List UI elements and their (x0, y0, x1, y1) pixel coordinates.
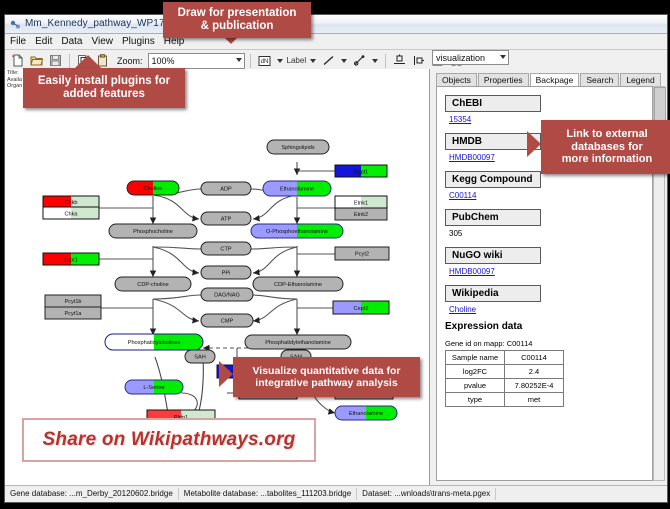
table-cell-key: type (446, 393, 505, 407)
menu-bar: File Edit Data View Plugins Help (5, 34, 667, 50)
pathway-info-header: Title: Availa Organ (7, 70, 22, 90)
svg-text:Chka: Chka (64, 212, 78, 218)
callout-text: Link to externaldatabases formore inform… (562, 128, 652, 166)
callout-plugins-arrow (75, 55, 101, 68)
table-row: log2FC 2.4 (446, 365, 564, 379)
table-cell-value: 7.80252E-4 (505, 379, 564, 393)
database-name: PubChem (445, 209, 541, 226)
svg-text:Phosphocholine: Phosphocholine (133, 229, 173, 235)
node-sah: SAH (185, 350, 215, 363)
node-cept1-right: Cept1 (333, 301, 389, 314)
node-cdp-ethanolamine: CDP-Ethanolamine (253, 277, 343, 291)
database-link[interactable]: C00114 (449, 191, 652, 200)
callout-visualize-arrow (219, 361, 233, 387)
database-value: 305 (449, 229, 652, 238)
svg-text:Phosphatidylethanolamine: Phosphatidylethanolamine (265, 340, 331, 346)
zoom-value: 100% (152, 56, 175, 66)
table-cell-key: pvalue (446, 379, 505, 393)
table-row: type met (446, 393, 564, 407)
database-name: ChEBI (445, 95, 541, 112)
line-icon[interactable] (320, 52, 337, 69)
svg-text:Cept1: Cept1 (354, 306, 369, 312)
menu-item-file[interactable]: File (10, 36, 26, 47)
node-phosphatidylethanolamine: Phosphatidylethanolamine (245, 335, 351, 349)
chevron-down-icon[interactable] (310, 59, 316, 63)
zoom-combobox[interactable]: 100% (148, 53, 245, 69)
visualization-combobox[interactable]: visualization (432, 50, 509, 65)
expression-data-table: Sample name C00114 log2FC 2.4 pvalue 7.8… (445, 350, 564, 407)
menu-item-plugins[interactable]: Plugins (122, 36, 155, 47)
table-cell-key: Sample name (446, 351, 505, 365)
node-pcyt1a: Pcyt1a (45, 307, 101, 319)
align-left-icon[interactable] (410, 52, 427, 69)
toolbar-separator (385, 54, 386, 68)
pathvisio-app-icon (10, 19, 21, 30)
svg-text:Sgpl1: Sgpl1 (354, 170, 368, 176)
status-dataset: Dataset: ...wnloads\trans-meta.pgex (357, 488, 496, 500)
svg-text:Ethanolamine: Ethanolamine (280, 187, 314, 193)
toolbar-separator (69, 54, 70, 68)
callout-text: Share on Wikipathways.org (43, 429, 296, 451)
visualization-value: visualization (436, 53, 485, 63)
database-link[interactable]: Choline (449, 305, 652, 314)
new-file-icon[interactable] (9, 52, 26, 69)
tab-legend[interactable]: Legend (620, 73, 660, 86)
anchor-icon[interactable] (351, 52, 368, 69)
database-name: NuGO wiki (445, 247, 541, 264)
node-chka: Chka (43, 207, 99, 219)
align-top-icon[interactable] (391, 52, 408, 69)
table-row: pvalue 7.80252E-4 (446, 379, 564, 393)
status-metabolite-database: Metabolite database: ...tabolites_111203… (179, 488, 357, 500)
zoom-label: Zoom: (117, 56, 143, 66)
screenshot-root: Mm_Kennedy_pathway_WP1771_45176.gpml Fil… (0, 0, 670, 509)
tab-properties[interactable]: Properties (478, 73, 529, 86)
node-dag-nag: DAG/NAG (201, 288, 253, 301)
status-bar: Gene database: ...m_Derby_20120602.bridg… (5, 485, 667, 502)
tab-backpage[interactable]: Backpage (530, 73, 580, 87)
table-cell-value: 2.4 (505, 365, 564, 379)
open-folder-icon[interactable] (28, 52, 45, 69)
window-title-bar: Mm_Kennedy_pathway_WP1771_45176.gpml (5, 15, 667, 34)
node-phosphocholine: Phosphocholine (109, 224, 197, 238)
callout-visualize-data: Visualize quantitative data forintegrati… (233, 357, 420, 397)
svg-text:Ctpt1: Ctpt1 (64, 258, 77, 264)
svg-text:ADP: ADP (220, 187, 232, 193)
node-cept1-left: Ctpt1 (43, 253, 99, 265)
node-o-phosphoethanolamine: O-Phosphoethanolamine (251, 224, 343, 238)
callout-text: Draw for presentation& publication (178, 7, 297, 33)
svg-text:Pcyt1a: Pcyt1a (64, 311, 82, 317)
callout-share-wikipathways: Share on Wikipathways.org (22, 418, 316, 462)
svg-text:ATP: ATP (221, 217, 232, 223)
node-sphingolipids: Sphingolipids (267, 140, 329, 154)
node-pcyt2: Pcyt2 (335, 247, 389, 260)
node-pcyt1b: Pcyt1b (45, 295, 101, 307)
node-atp: ATP (201, 212, 251, 225)
chevron-down-icon (236, 58, 242, 62)
node-ethanolamine-1: Ethanolamine (263, 181, 331, 196)
chevron-down-icon (500, 55, 506, 59)
table-cell-key: log2FC (446, 365, 505, 379)
datanode-icon[interactable]: dN (256, 52, 273, 69)
table-cell-value: C00114 (505, 351, 564, 365)
toolbar-separator (250, 54, 251, 68)
node-ethanolamine-2: Ethanolamine (335, 406, 397, 420)
node-choline-top: Choline (127, 181, 179, 195)
node-etnk2: Etnk2 (335, 208, 387, 220)
svg-text:CDP-Ethanolamine: CDP-Ethanolamine (274, 282, 322, 288)
expression-data-heading: Expression data (445, 321, 652, 332)
svg-text:Ethanolamine: Ethanolamine (349, 411, 383, 417)
svg-text:Pcyt2: Pcyt2 (355, 252, 369, 258)
node-sgpl1: Sgpl1 (335, 165, 387, 177)
node-l-serine-left: L-Serine (125, 380, 183, 394)
tab-objects[interactable]: Objects (436, 73, 477, 86)
node-cmp: CMP (201, 314, 253, 327)
database-section-wikipedia: Wikipedia Choline (445, 283, 652, 314)
node-cdp-choline: CDP-choline (115, 277, 191, 291)
svg-text:L-Serine: L-Serine (143, 385, 164, 391)
menu-item-view[interactable]: View (91, 36, 113, 47)
menu-item-edit[interactable]: Edit (35, 36, 52, 47)
database-section-pubchem: PubChem 305 (445, 207, 652, 238)
chevron-down-icon[interactable] (372, 59, 378, 63)
svg-text:Pcyt1b: Pcyt1b (64, 299, 81, 305)
callout-text: Visualize quantitative data forintegrati… (252, 365, 400, 389)
node-phosphatidylcholines: Phosphatidylcholines (105, 334, 203, 350)
svg-text:PPi: PPi (222, 271, 231, 277)
svg-text:dN: dN (260, 59, 268, 65)
menu-item-data[interactable]: Data (61, 36, 82, 47)
node-etnk1: Etnk1 (335, 196, 387, 208)
callout-install-plugins: Easily install plugins foradded features (23, 68, 185, 108)
callout-text: Easily install plugins foradded features (38, 75, 170, 101)
node-ctp: CTP (201, 242, 251, 255)
table-row: Sample name C00114 (446, 351, 564, 365)
svg-text:O-Phosphoethanolamine: O-Phosphoethanolamine (266, 229, 328, 235)
svg-text:CMP: CMP (221, 319, 234, 325)
svg-text:CTP: CTP (220, 247, 231, 253)
database-name: Kegg Compound (445, 171, 541, 188)
tab-search[interactable]: Search (580, 73, 619, 86)
table-cell-value: met (505, 393, 564, 407)
chevron-down-icon[interactable] (341, 59, 347, 63)
info-organism-line: Organ (7, 83, 22, 90)
svg-text:Phosphatidylcholines: Phosphatidylcholines (128, 340, 181, 346)
chevron-down-icon[interactable] (277, 59, 283, 63)
status-gene-database: Gene database: ...m_Derby_20120602.bridg… (5, 488, 179, 500)
save-icon[interactable] (47, 52, 64, 69)
callout-draw-for-publication: Draw for presentation& publication (163, 2, 311, 38)
svg-text:Etnk2: Etnk2 (354, 212, 368, 218)
database-name: Wikipedia (445, 285, 541, 302)
svg-text:Sphingolipids: Sphingolipids (281, 145, 314, 151)
svg-text:Choline: Choline (144, 186, 163, 192)
gene-id-line: Gene id on mapp: C00114 (445, 339, 652, 348)
svg-text:SAH: SAH (194, 355, 206, 361)
svg-text:CDP-choline: CDP-choline (137, 282, 168, 288)
node-ppi: PPi (201, 266, 251, 279)
callout-external-links: Link to externaldatabases formore inform… (541, 120, 670, 174)
database-link[interactable]: HMDB00097 (449, 267, 652, 276)
label-tool-label: Label (287, 56, 307, 65)
callout-links-arrow (527, 131, 541, 157)
svg-text:DAG/NAG: DAG/NAG (214, 293, 240, 299)
node-chkb: Chkb (43, 196, 99, 207)
svg-text:Chkb: Chkb (64, 200, 77, 206)
svg-text:Etnk1: Etnk1 (354, 201, 368, 207)
database-section-nugo: NuGO wiki HMDB00097 (445, 245, 652, 276)
node-adp: ADP (201, 182, 251, 195)
side-panel-tabs: Objects Properties Backpage Search Legen… (436, 71, 661, 87)
